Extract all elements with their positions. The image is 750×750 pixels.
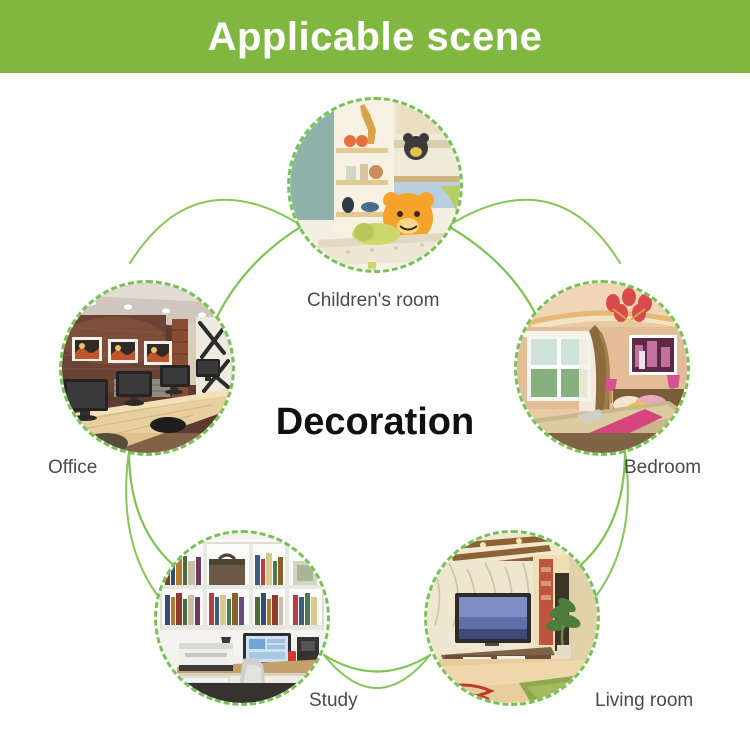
scene-label-children-room: Children's room <box>307 291 439 310</box>
scene-node-children-room[interactable] <box>287 97 463 273</box>
children-room-photo <box>290 100 460 270</box>
scene-diagram: Children's room <box>0 73 750 750</box>
scene-label-living-room: Living room <box>595 691 693 710</box>
scene-node-living-room[interactable] <box>424 530 600 706</box>
scene-label-office: Office <box>48 458 97 477</box>
study-photo <box>157 533 327 703</box>
living-room-photo <box>427 533 597 703</box>
scene-label-study: Study <box>309 691 358 710</box>
header-banner: Applicable scene <box>0 0 750 73</box>
study-disc[interactable] <box>154 530 330 706</box>
page-title: Applicable scene <box>208 17 543 57</box>
scene-label-bedroom: Bedroom <box>624 458 701 477</box>
diagram-center-label: Decoration <box>0 403 750 441</box>
scene-node-study[interactable] <box>154 530 330 706</box>
children-room-disc[interactable] <box>287 97 463 273</box>
living-room-disc[interactable] <box>424 530 600 706</box>
